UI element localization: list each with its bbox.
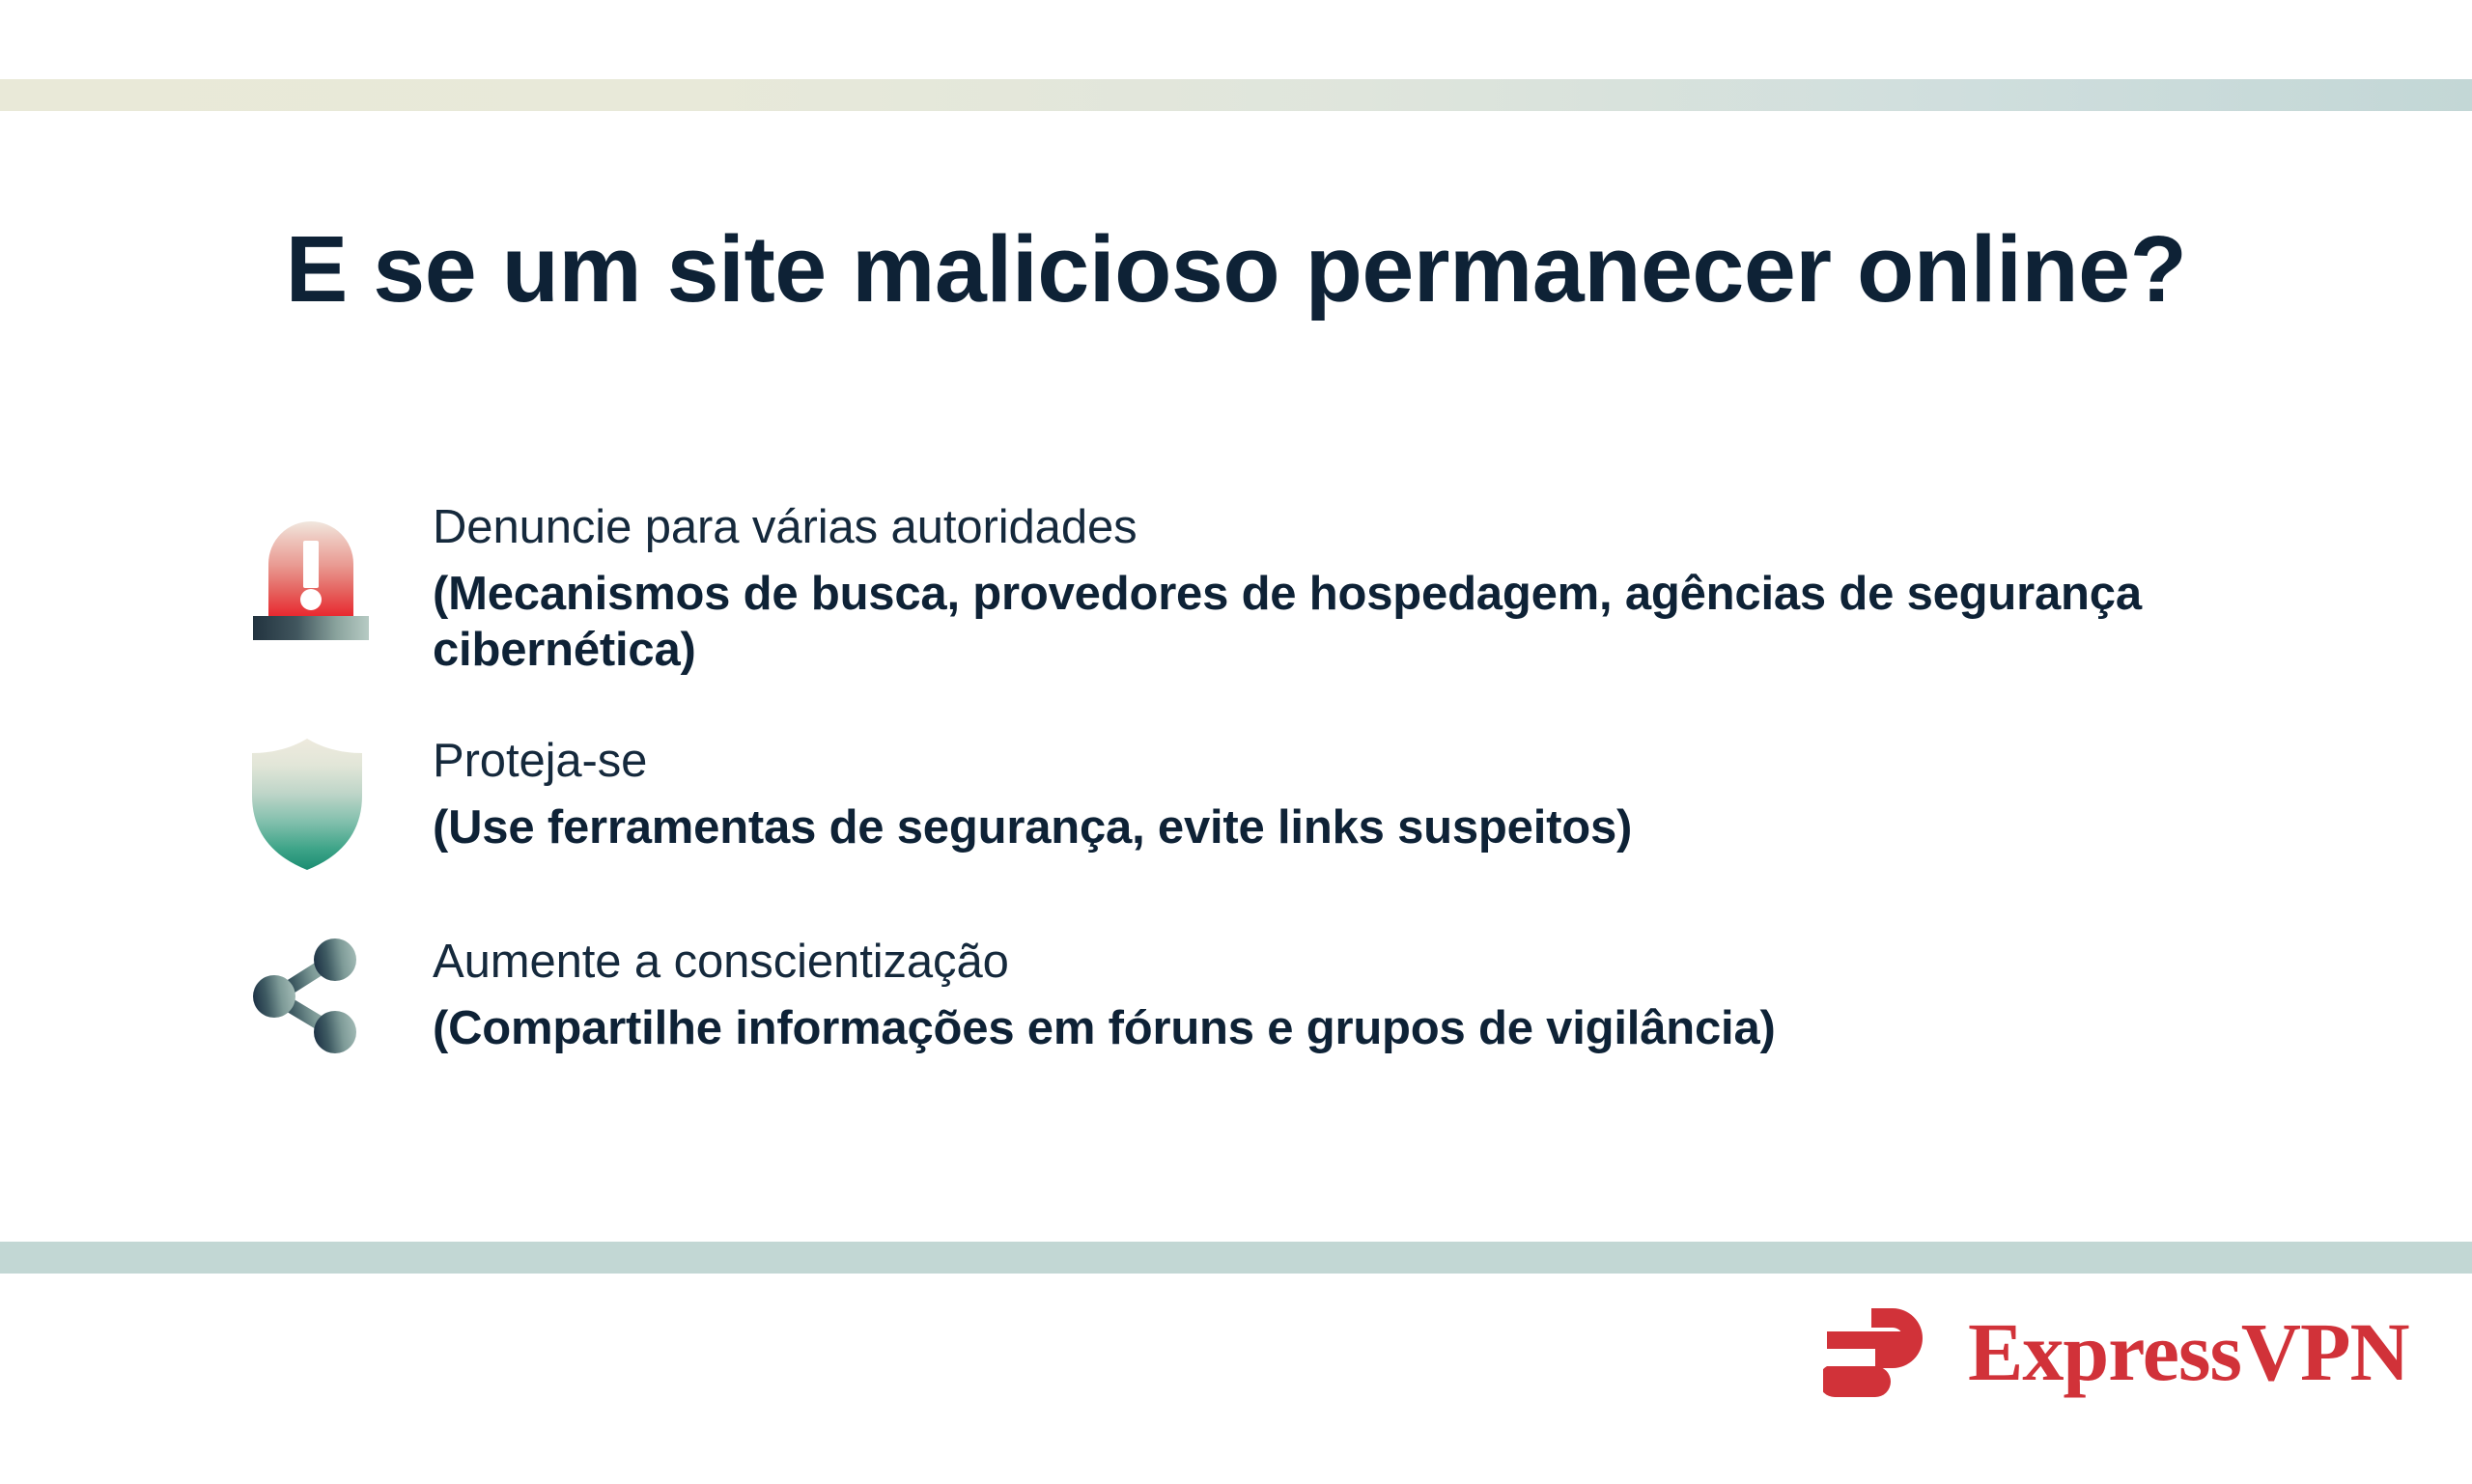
top-divider xyxy=(0,79,2472,111)
expressvpn-logo: ExpressVPN xyxy=(1823,1305,2409,1398)
alarm-siren-icon xyxy=(249,498,433,649)
list-item-detail: (Use ferramentas de segurança, evite lin… xyxy=(433,800,2374,856)
list-item-heading: Denuncie para várias autoridades xyxy=(433,500,2374,555)
list-item-heading: Proteja-se xyxy=(433,734,2374,789)
shield-icon xyxy=(249,732,433,873)
list-item: Aumente a conscientização (Compartilhe i… xyxy=(249,933,2374,1057)
expressvpn-wordmark: ExpressVPN xyxy=(1968,1310,2409,1393)
bullet-list: Denuncie para várias autoridades (Mecani… xyxy=(249,498,2374,1057)
list-item-detail: (Mecanismos de busca, provedores de hosp… xyxy=(433,567,2374,679)
list-item-detail: (Compartilhe informações em fóruns e gru… xyxy=(433,1001,2374,1057)
list-item: Denuncie para várias autoridades (Mecani… xyxy=(249,498,2374,678)
slide-canvas: E se um site malicioso permanecer online… xyxy=(0,0,2472,1484)
list-item-text: Aumente a conscientização (Compartilhe i… xyxy=(433,933,2374,1057)
page-title: E se um site malicioso permanecer online… xyxy=(0,215,2472,324)
expressvpn-e-mark-icon xyxy=(1823,1305,1935,1398)
bottom-divider xyxy=(0,1242,2472,1274)
share-nodes-icon xyxy=(249,933,433,1054)
list-item: Proteja-se (Use ferramentas de segurança… xyxy=(249,732,2374,873)
list-item-text: Denuncie para várias autoridades (Mecani… xyxy=(433,498,2374,678)
list-item-heading: Aumente a conscientização xyxy=(433,935,2374,990)
list-item-text: Proteja-se (Use ferramentas de segurança… xyxy=(433,732,2374,856)
